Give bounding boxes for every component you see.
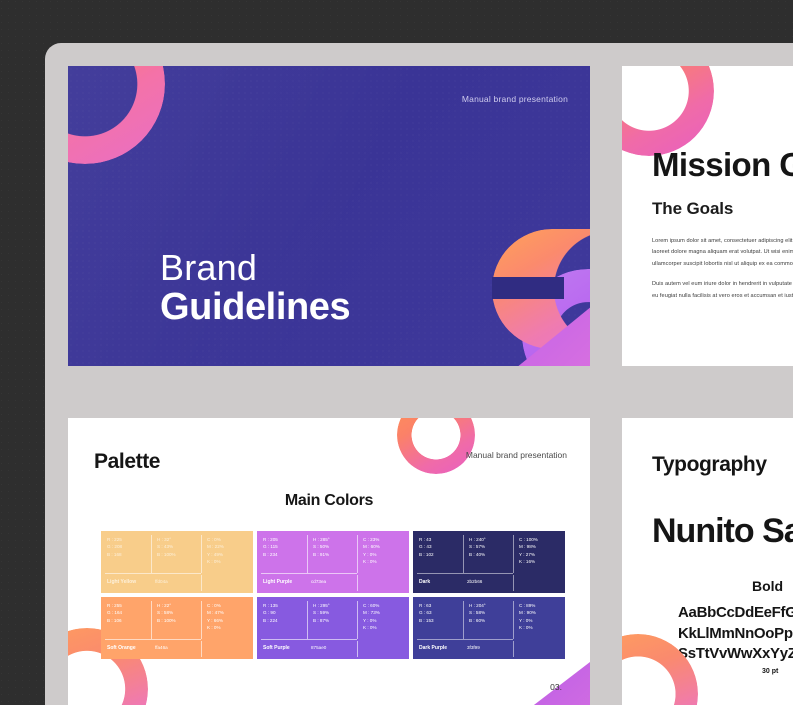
swatch-hsb-values: H : 204°S : 58%B : 60% bbox=[463, 597, 513, 639]
color-swatch[interactable]: R : 255G : 164B : 106H : 22°S : 58%B : 1… bbox=[101, 597, 253, 659]
swatch-cmyk-values: C : 0%M : 47%Y : 66%K : 0% bbox=[201, 597, 253, 659]
color-swatch[interactable]: R : 63G : 63B : 153H : 204°S : 58%B : 60… bbox=[413, 597, 565, 659]
swatch-divider bbox=[357, 641, 358, 657]
mission-subtitle: The Goals bbox=[652, 199, 733, 219]
swatch-name: Soft Purple bbox=[257, 639, 307, 659]
swatch-rgb-values: R : 63G : 63B : 153 bbox=[413, 597, 463, 639]
palette-title: Palette bbox=[94, 450, 160, 474]
color-swatch[interactable]: R : 43G : 43B : 102H : 240°S : 57%B : 40… bbox=[413, 531, 565, 593]
swatch-divider bbox=[513, 575, 514, 591]
swatch-divider bbox=[105, 639, 201, 640]
swatch-divider bbox=[201, 535, 202, 573]
screenshot-root: Manual brand presentation Brand Guidelin… bbox=[0, 0, 793, 705]
swatch-cmyk-values: C : 100%M : 98%Y : 27%K : 16% bbox=[513, 531, 565, 593]
color-swatch[interactable]: R : 135G : 90B : 224H : 295°S : 59%B : 8… bbox=[257, 597, 409, 659]
slide-palette[interactable]: Palette Manual brand presentation Main C… bbox=[68, 418, 590, 705]
swatch-cmyk-values: C : 23%M : 60%Y : 0%K : 0% bbox=[357, 531, 409, 593]
color-swatch[interactable]: R : 205G : 115B : 234H : 285°S : 50%B : … bbox=[257, 531, 409, 593]
swatch-name: Light Yellow bbox=[101, 573, 151, 593]
swatch-divider bbox=[201, 575, 202, 591]
title-slide-heading-light: Brand bbox=[160, 250, 257, 287]
mission-paragraph-1: Lorem ipsum dolor sit amet, consectetuer… bbox=[652, 236, 793, 270]
slide-typography[interactable]: Typography Nunito Sans Bold AaBbCcDdEeFf… bbox=[622, 418, 793, 705]
palette-page-number: 03. bbox=[550, 682, 562, 692]
slide-title[interactable]: Manual brand presentation Brand Guidelin… bbox=[68, 66, 590, 366]
swatch-hex-code: cd73ea bbox=[307, 573, 357, 593]
swatch-name: Light Purple bbox=[257, 573, 307, 593]
swatch-name: Dark Purple bbox=[413, 639, 463, 659]
swatch-divider bbox=[463, 535, 464, 573]
swatch-divider bbox=[417, 573, 513, 574]
swatch-divider bbox=[261, 573, 357, 574]
swatch-name: Dark bbox=[413, 573, 463, 593]
glyph-line-3: SsTtVvWwXxYyZz bbox=[678, 644, 793, 665]
swatch-hsb-values: H : 22°S : 58%B : 100% bbox=[151, 597, 201, 639]
swatch-divider bbox=[417, 639, 513, 640]
swatch-divider bbox=[261, 639, 357, 640]
color-swatch[interactable]: R : 225G : 208B : 168H : 32°S : 43%B : 1… bbox=[101, 531, 253, 593]
glyph-line-1: AaBbCcDdEeFfGgHhIiJj bbox=[678, 603, 793, 624]
mission-title: Mission Goals bbox=[652, 146, 793, 184]
logo-notch bbox=[492, 277, 564, 299]
swatch-hex-code: 3f3f99 bbox=[463, 639, 513, 659]
swatch-hsb-values: H : 285°S : 50%B : 91% bbox=[307, 531, 357, 573]
swatch-divider bbox=[307, 535, 308, 573]
swatch-divider bbox=[201, 641, 202, 657]
swatch-hex-code: 2b2b66 bbox=[463, 573, 513, 593]
swatch-divider bbox=[105, 573, 201, 574]
swatch-divider bbox=[151, 535, 152, 573]
glyph-line-2: KkLlMmNnOoPpQqRr bbox=[678, 624, 793, 645]
typography-glyph-specimen: AaBbCcDdEeFfGgHhIiJj KkLlMmNnOoPpQqRr Ss… bbox=[678, 603, 793, 665]
swatch-rgb-values: R : 205G : 115B : 234 bbox=[257, 531, 307, 573]
typography-title: Typography bbox=[652, 453, 767, 477]
swatch-name: Soft Orange bbox=[101, 639, 151, 659]
swatch-divider bbox=[357, 601, 358, 639]
slide-mission-goals[interactable]: Mission Goals The Goals Lorem ipsum dolo… bbox=[622, 66, 793, 366]
swatch-hsb-values: H : 32°S : 43%B : 100% bbox=[151, 531, 201, 573]
color-swatch-grid: R : 225G : 208B : 168H : 32°S : 43%B : 1… bbox=[101, 531, 565, 659]
swatch-divider bbox=[513, 641, 514, 657]
swatch-divider bbox=[513, 535, 514, 573]
swatch-hex-code: ffd04a bbox=[151, 573, 201, 593]
swatch-rgb-values: R : 43G : 43B : 102 bbox=[413, 531, 463, 573]
typography-font-name: Nunito Sans bbox=[652, 512, 793, 551]
swatch-divider bbox=[463, 601, 464, 639]
swatch-rgb-values: R : 255G : 164B : 106 bbox=[101, 597, 151, 639]
swatch-rgb-values: R : 225G : 208B : 168 bbox=[101, 531, 151, 573]
title-slide-kicker: Manual brand presentation bbox=[462, 94, 568, 104]
mission-corner-ring-icon bbox=[622, 66, 714, 156]
typography-size-label: 30 pt bbox=[762, 668, 778, 675]
palette-section-heading: Main Colors bbox=[68, 492, 590, 510]
swatch-cmyk-values: C : 0%M : 22%Y : 49%K : 0% bbox=[201, 531, 253, 593]
palette-kicker: Manual brand presentation bbox=[466, 450, 567, 460]
swatch-cmyk-values: C : 89%M : 90%Y : 0%K : 0% bbox=[513, 597, 565, 659]
swatch-divider bbox=[201, 601, 202, 639]
swatch-cmyk-values: C : 60%M : 73%Y : 0%K : 0% bbox=[357, 597, 409, 659]
swatch-divider bbox=[151, 601, 152, 639]
swatch-divider bbox=[307, 601, 308, 639]
swatch-rgb-values: R : 135G : 90B : 224 bbox=[257, 597, 307, 639]
swatch-hex-code: ffa46a bbox=[151, 639, 201, 659]
swatch-divider bbox=[357, 535, 358, 573]
swatch-hsb-values: H : 295°S : 59%B : 87% bbox=[307, 597, 357, 639]
swatch-divider bbox=[513, 601, 514, 639]
swatch-hex-code: 875ae0 bbox=[307, 639, 357, 659]
mission-paragraph-2: Duis autem vel eum iriure dolor in hendr… bbox=[652, 279, 793, 302]
title-slide-heading-bold: Guidelines bbox=[160, 288, 350, 327]
swatch-divider bbox=[357, 575, 358, 591]
palette-corner-ring-icon bbox=[397, 418, 475, 474]
swatch-hsb-values: H : 240°S : 57%B : 40% bbox=[463, 531, 513, 573]
mission-body: Lorem ipsum dolor sit amet, consectetuer… bbox=[652, 236, 793, 302]
typography-weight-label: Bold bbox=[752, 578, 783, 594]
